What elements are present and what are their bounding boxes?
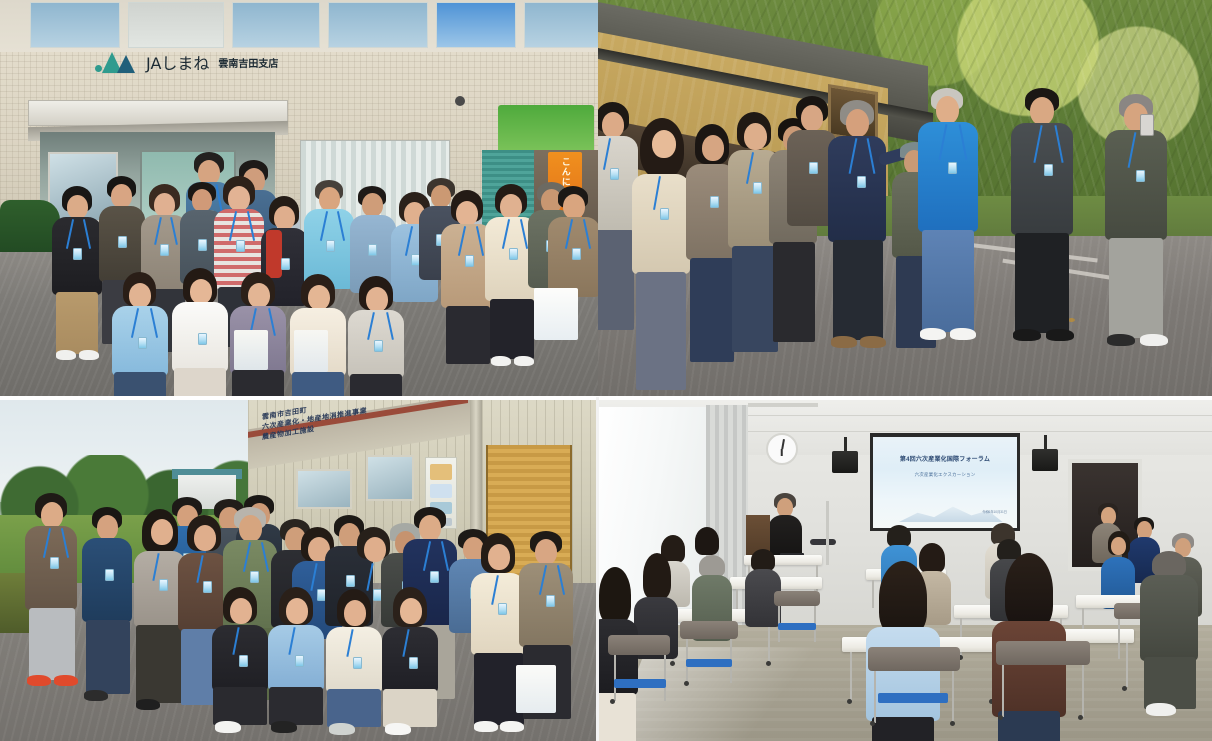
photo-collage: JAしまね 雲南吉田支店 こんにゃく — [0, 0, 1212, 741]
sign-main-text: JAしまね — [146, 50, 209, 74]
ceiling-vent — [748, 403, 818, 407]
fallen-leaf — [1068, 318, 1075, 322]
desk-leg — [768, 622, 770, 662]
collage-gutter-horizontal — [0, 396, 1212, 400]
wall-clock — [766, 433, 798, 465]
chair-leg — [1002, 665, 1004, 717]
photo-outdoor-guide — [598, 0, 1212, 397]
upper-window — [328, 2, 428, 48]
desk-leg — [872, 580, 874, 608]
ceiling-speaker — [832, 451, 858, 473]
sign-sub-text: 雲南吉田支店 — [218, 55, 278, 70]
chair-caster — [610, 699, 615, 704]
desk-caster — [670, 661, 675, 666]
slide-subtitle: 六次産業化エクスカーション — [873, 472, 1017, 478]
chair-leg — [1082, 665, 1084, 717]
photo-bottom-right: 第4回六次産業化国際フォーラム 六次産業化エクスカーション 令和6年10月31日 — [598, 397, 1212, 741]
sunlight-patch — [609, 647, 857, 741]
chair-backrest — [774, 591, 820, 606]
ceiling-speaker — [1032, 449, 1058, 471]
security-camera — [455, 96, 465, 106]
document-camera — [810, 539, 836, 545]
chair-caster — [950, 721, 955, 726]
chair-caster — [1078, 715, 1083, 720]
chair-leg — [664, 655, 666, 701]
chair-leg — [952, 671, 954, 723]
chair-caster — [998, 715, 1003, 720]
upper-louver — [128, 2, 224, 48]
upper-window — [30, 2, 120, 48]
upper-window — [524, 2, 598, 48]
chair-leg — [874, 671, 876, 723]
desk-leg — [850, 652, 852, 700]
chair-seat — [878, 693, 948, 703]
chair-leg — [1118, 619, 1120, 659]
photo-bottom-left: 雲南市吉田町 六次産業化・地産地消推進事業 農産物加工施設 — [0, 397, 598, 741]
photo-facility-group: 雲南市吉田町 六次産業化・地産地消推進事業 農産物加工施設 — [0, 397, 598, 741]
collage-gutter-vertical — [596, 397, 599, 741]
tote-bag — [294, 330, 328, 372]
slide-footer: 令和6年10月31日 — [982, 509, 1007, 514]
photo-top-left: JAしまね 雲南吉田支店 こんにゃく — [0, 0, 598, 397]
chair-seat — [778, 623, 816, 630]
tote-bag — [534, 288, 578, 340]
desk-caster — [847, 699, 852, 704]
facility-window — [296, 469, 352, 509]
chair-backrest — [996, 641, 1090, 665]
ja-logo-icon — [95, 51, 139, 73]
desk-caster — [1122, 686, 1127, 691]
photo-seminar-room: 第4回六次産業化国際フォーラム 六次産業化エクスカーション 令和6年10月31日 — [598, 397, 1212, 741]
tote-bag — [516, 665, 556, 713]
chair-backrest — [868, 647, 960, 671]
chair-caster — [870, 721, 875, 726]
chair-leg — [614, 655, 616, 701]
upper-window — [232, 2, 320, 48]
photo-top-right — [598, 0, 1212, 397]
chair-seat — [686, 659, 732, 667]
chair-backrest — [608, 635, 670, 655]
green-awning — [498, 105, 594, 153]
facility-window — [366, 455, 414, 501]
mic-stand — [826, 501, 829, 565]
tote-bag — [234, 330, 268, 370]
desk-leg — [1126, 643, 1128, 687]
projection-screen: 第4回六次産業化国際フォーラム 六次産業化エクスカーション 令和6年10月31日 — [870, 433, 1020, 531]
chair-caster — [684, 681, 689, 686]
slide-title: 第4回六次産業化国際フォーラム — [873, 454, 1017, 463]
chair-seat — [614, 679, 666, 688]
ja-branch-sign: JAしまね 雲南吉田支店 — [95, 50, 278, 74]
chair-backrest — [680, 621, 738, 639]
desk-caster — [766, 661, 771, 666]
photo-ja-branch-group: JAしまね 雲南吉田支店 こんにゃく — [0, 0, 598, 397]
upper-window — [436, 2, 516, 48]
